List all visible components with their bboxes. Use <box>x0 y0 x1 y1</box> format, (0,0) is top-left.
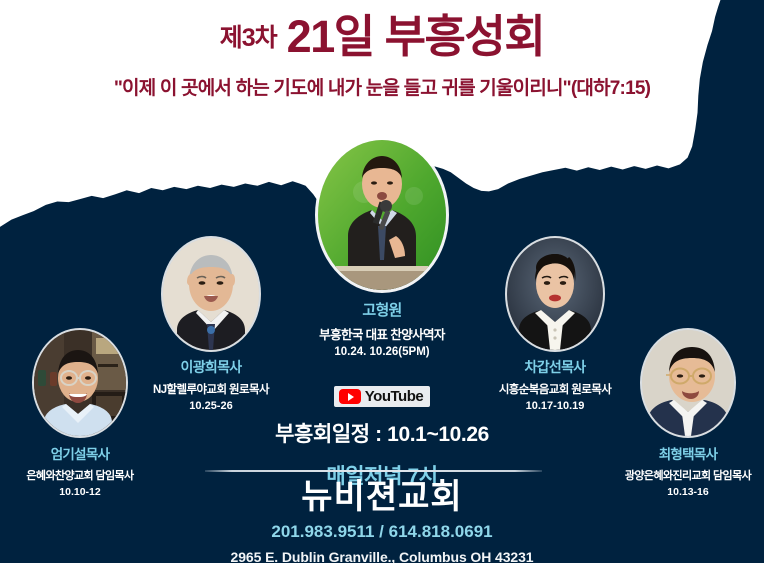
poster-title: 제3차21일 부흥성회 <box>0 14 764 59</box>
youtube-play-icon <box>339 389 361 404</box>
scripture-verse: "이제 이 곳에서 하는 기도에 내가 눈을 들고 귀를 기울이리니"(대하7:… <box>0 73 764 100</box>
title-main: 21일 부흥성회 <box>287 11 545 62</box>
portrait-illustration-icon <box>507 238 603 350</box>
church-address: 2965 E. Dublin Granville., Columbus OH 4… <box>0 549 764 563</box>
schedule-block: YouTube 부흥회일정 : 10.1~10.26 매일저녁 7시 <box>0 386 764 490</box>
portrait-illustration-icon <box>318 140 446 290</box>
speaker-photo-inner-right <box>507 238 603 350</box>
church-name: 뉴비젼교회 <box>0 479 764 516</box>
youtube-badge[interactable]: YouTube <box>334 386 430 407</box>
speaker-card-center: 고형원 부흥한국 대표 찬양사역자 10.24. 10.26(5PM) <box>282 140 482 358</box>
footer-divider <box>205 470 542 472</box>
poster-header: 제3차21일 부흥성회 "이제 이 곳에서 하는 기도에 내가 눈을 들고 귀를… <box>0 0 764 100</box>
speaker-role: 부흥한국 대표 찬양사역자 <box>282 324 482 343</box>
poster-footer: 뉴비젼교회 201.983.9511 / 614.818.0691 2965 E… <box>0 479 764 563</box>
speaker-dates: 10.24. 10.26(5PM) <box>282 346 482 358</box>
church-phone-numbers[interactable]: 201.983.9511 / 614.818.0691 <box>0 522 764 542</box>
speaker-photo-center <box>318 140 446 290</box>
schedule-dates: 부흥회일정 : 10.1~10.26 <box>0 418 764 448</box>
title-prefix: 제3차 <box>220 24 277 52</box>
speaker-photo-inner-left <box>163 238 259 350</box>
speaker-name: 고형원 <box>282 299 482 320</box>
revival-meeting-poster: 제3차21일 부흥성회 "이제 이 곳에서 하는 기도에 내가 눈을 들고 귀를… <box>0 0 764 563</box>
portrait-illustration-icon <box>163 238 259 350</box>
youtube-label: YouTube <box>365 388 423 405</box>
